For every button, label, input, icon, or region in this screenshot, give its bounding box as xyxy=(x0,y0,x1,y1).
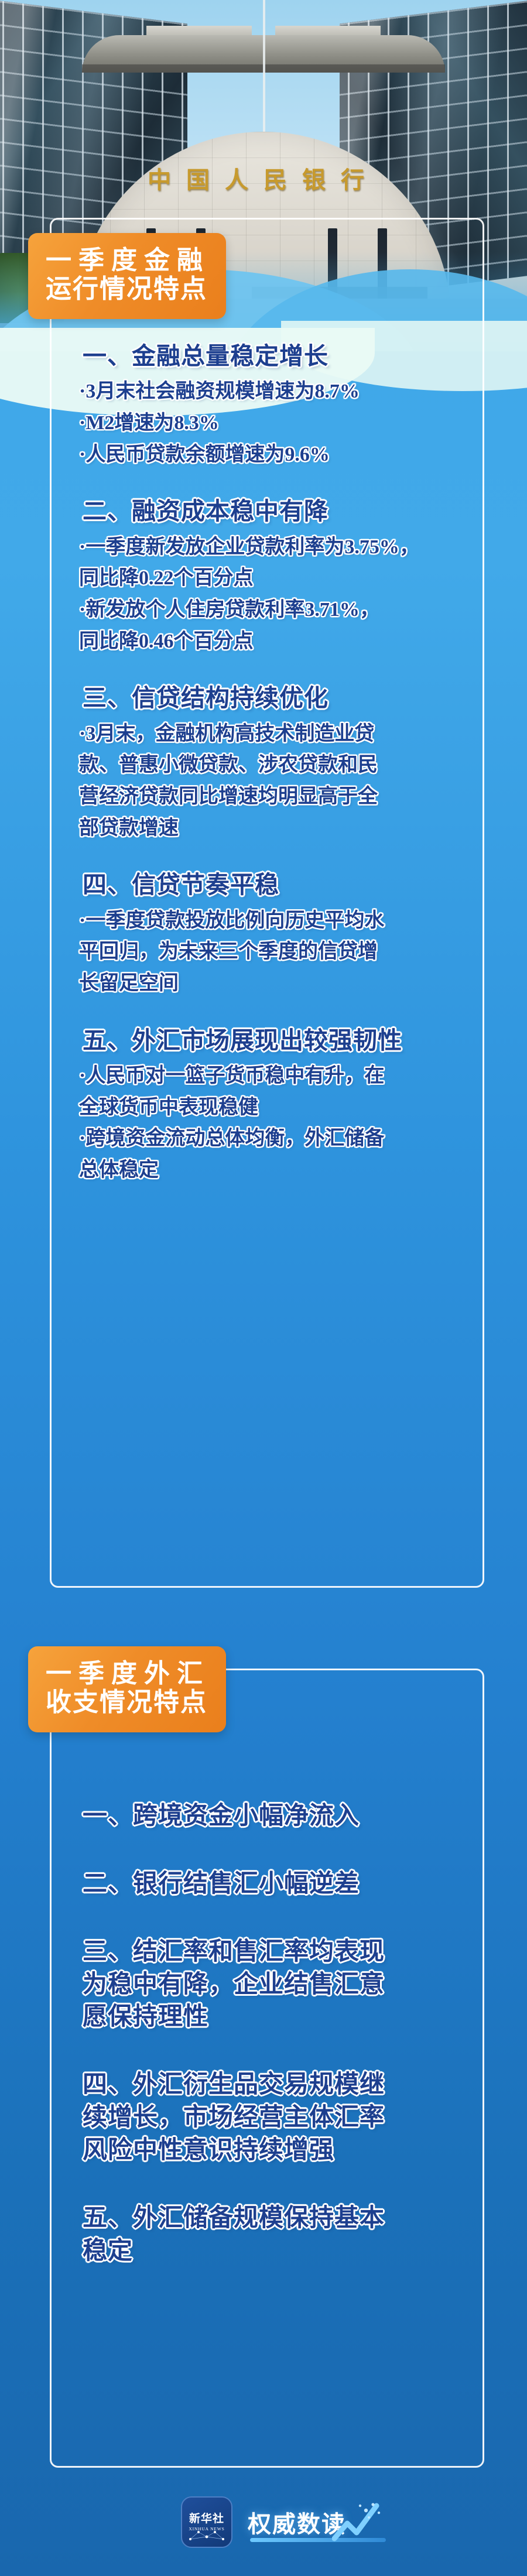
bullet-line: 总体稳定 xyxy=(74,1156,468,1185)
card2-title-line1: 一季度外汇 xyxy=(46,1659,210,1688)
section-heading: 三、信贷结构持续优化 xyxy=(74,683,468,713)
footer-branding: 新华社 XINHUA NEWS 权威数读 xyxy=(0,2487,527,2557)
item-heading: 三、结汇率和售汇率均表现 xyxy=(74,1936,468,1969)
item-heading-cont: 愿保持理性 xyxy=(74,2001,468,2034)
item-heading-cont: 稳定 xyxy=(74,2235,468,2268)
section-total-financial-volume: 一、金融总量稳定增长 ·3月末社会融资规模增速为8.7% ·M2增速为8.3% … xyxy=(74,341,468,469)
brand-quanwei-shudu: 权威数读 xyxy=(248,2499,346,2546)
xinhua-logo-icon: 新华社 XINHUA NEWS xyxy=(181,2496,232,2548)
section-credit-structure: 三、信贷结构持续优化 ·3月末，金融机构高技术制造业贷 款、普惠小微贷款、涉农贷… xyxy=(74,683,468,842)
fx-item-3: 三、结汇率和售汇率均表现 为稳中有降，企业结售汇意 愿保持理性 xyxy=(74,1936,468,2034)
item-heading-cont: 续增长，市场经营主体汇率 xyxy=(74,2102,468,2135)
fx-item-4: 四、外汇衍生品交易规模继 续增长，市场经营主体汇率 风险中性意识持续增强 xyxy=(74,2069,468,2167)
bullet-line: 营经济贷款同比增速均明显高于全 xyxy=(74,782,468,811)
card-fx-balance: 一、跨境资金小幅净流入 二、银行结售汇小幅逆差 三、结汇率和售汇率均表现 为稳中… xyxy=(50,1669,484,2468)
bullet-line: ·3月末，金融机构高技术制造业贷 xyxy=(74,720,468,749)
card1-title-line1: 一季度金融 xyxy=(46,246,210,275)
card1-title-line2: 运行情况特点 xyxy=(46,275,210,303)
fx-item-5: 五、外汇储备规模保持基本 稳定 xyxy=(74,2202,468,2268)
section-heading: 一、金融总量稳定增长 xyxy=(74,341,468,371)
bullet-line: 同比降0.46个百分点 xyxy=(74,627,468,656)
section-heading: 二、融资成本稳中有降 xyxy=(74,496,468,526)
card-financial-operations: 一、金融总量稳定增长 ·3月末社会融资规模增速为8.7% ·M2增速为8.3% … xyxy=(50,218,484,1588)
bullet-line: 同比降0.22个百分点 xyxy=(74,564,468,593)
card2-title-line2: 收支情况特点 xyxy=(46,1688,210,1717)
section-credit-pace: 四、信贷节奏平稳 ·一季度贷款投放比例向历史平均水 平回归，为未来三个季度的信贷… xyxy=(74,869,468,998)
card2-title-chip: 一季度外汇 收支情况特点 xyxy=(28,1646,226,1732)
fx-item-1: 一、跨境资金小幅净流入 xyxy=(74,1800,468,1833)
item-heading-cont: 风险中性意识持续增强 xyxy=(74,2135,468,2167)
network-dots-icon xyxy=(182,2527,231,2543)
bullet-line: ·M2增速为8.3% xyxy=(74,409,468,438)
card1-title-chip: 一季度金融 运行情况特点 xyxy=(28,233,226,319)
section-financing-cost: 二、融资成本稳中有降 ·一季度新发放企业贷款利率为3.75%， 同比降0.22个… xyxy=(74,496,468,656)
item-heading: 一、跨境资金小幅净流入 xyxy=(74,1800,468,1833)
bullet-line: ·人民币贷款余额增速为9.6% xyxy=(74,440,468,470)
item-heading: 四、外汇衍生品交易规模继 xyxy=(74,2069,468,2102)
item-heading-cont: 为稳中有降，企业结售汇意 xyxy=(74,1969,468,2002)
bullet-line: ·新发放个人住房贷款利率3.71%， xyxy=(74,595,468,625)
bullet-line: ·3月末社会融资规模增速为8.7% xyxy=(74,377,468,406)
item-heading: 五、外汇储备规模保持基本 xyxy=(74,2202,468,2235)
bullet-line: 部贷款增速 xyxy=(74,814,468,843)
bullet-line: ·一季度新发放企业贷款利率为3.75%， xyxy=(74,533,468,562)
bullet-line: ·跨境资金流动总体均衡，外汇储备 xyxy=(74,1124,468,1153)
rising-chart-arrow-icon xyxy=(332,2500,385,2546)
item-heading: 二、银行结售汇小幅逆差 xyxy=(74,1868,468,1901)
bullet-line: 全球货币中表现稳健 xyxy=(74,1093,468,1122)
infographic-page: 中国人民银行 一、金融总量稳定增长 ·3月末社会融资规模增速为8.7% ·M2增… xyxy=(0,0,527,2576)
card-content: 一、金融总量稳定增长 ·3月末社会融资规模增速为8.7% ·M2增速为8.3% … xyxy=(50,218,484,1212)
bullet-line: ·人民币对一篮子货币稳中有升，在 xyxy=(74,1061,468,1091)
fx-item-2: 二、银行结售汇小幅逆差 xyxy=(74,1868,468,1901)
bullet-line: ·一季度贷款投放比例向历史平均水 xyxy=(74,906,468,936)
brand-text: 权威数读 xyxy=(248,2505,346,2539)
building-sign-text: 中国人民银行 xyxy=(76,161,451,195)
bullet-line: 长留足空间 xyxy=(74,969,468,998)
section-fx-market-resilience: 五、外汇市场展现出较强韧性 ·人民币对一篮子货币稳中有升，在 全球货币中表现稳健… xyxy=(74,1025,468,1185)
section-heading: 五、外汇市场展现出较强韧性 xyxy=(74,1025,468,1056)
bullet-line: 平回归，为未来三个季度的信贷增 xyxy=(74,937,468,967)
xinhua-logo-cn: 新华社 xyxy=(189,2513,224,2524)
section-heading: 四、信贷节奏平稳 xyxy=(74,869,468,900)
card-content: 一、跨境资金小幅净流入 二、银行结售汇小幅逆差 三、结汇率和售汇率均表现 为稳中… xyxy=(50,1669,484,2321)
bullet-line: 款、普惠小微贷款、涉农贷款和民 xyxy=(74,751,468,780)
